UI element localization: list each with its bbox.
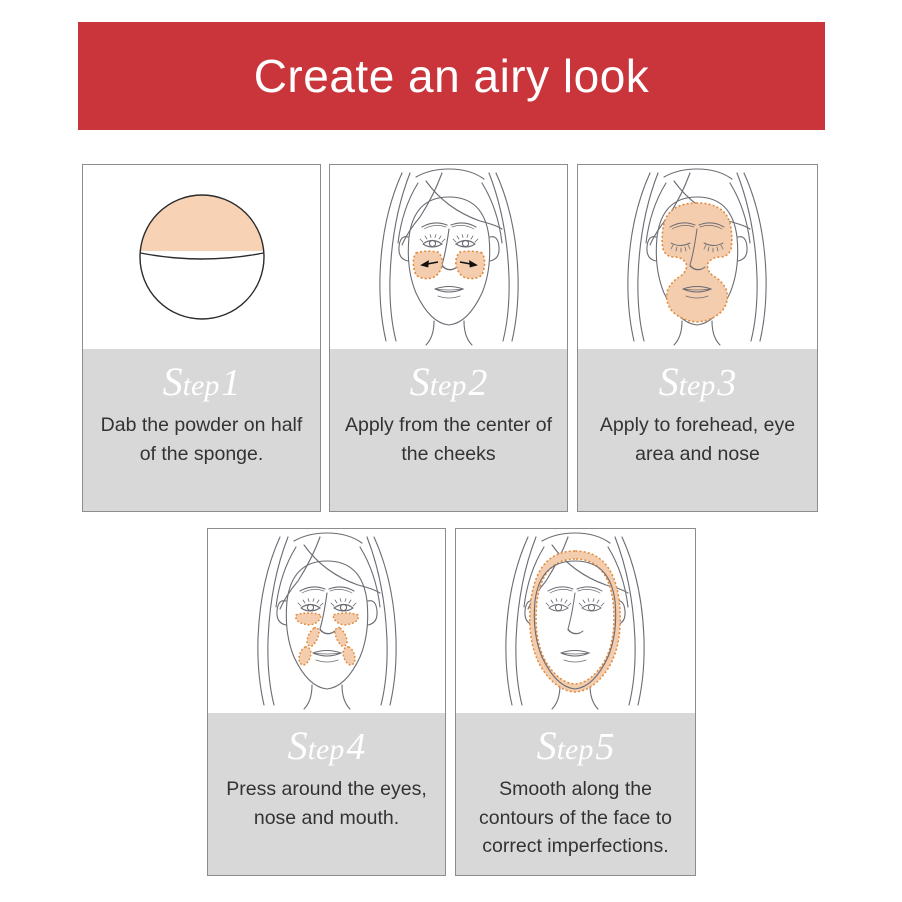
step-card-4: Step4 Press around the eyes, nose and mo…	[207, 528, 446, 876]
caption-3: Step3 Apply to forehead, eye area and no…	[578, 349, 817, 511]
step-description-1: Dab the powder on half of the sponge.	[89, 411, 314, 468]
step-description-3: Apply to forehead, eye area and nose	[584, 411, 811, 468]
caption-5: Step5 Smooth along the contours of the f…	[456, 713, 695, 875]
step-label-2: Step2	[336, 355, 561, 409]
caption-1: Step1 Dab the powder on half of the spon…	[83, 349, 320, 511]
step-label-5: Step5	[462, 719, 689, 773]
illustration-sponge-half-powder	[83, 165, 320, 349]
illustration-face-contour-oval	[456, 529, 695, 713]
step-card-1: Step1 Dab the powder on half of the spon…	[82, 164, 321, 512]
step-label-3: Step3	[584, 355, 811, 409]
step-description-4: Press around the eyes, nose and mouth.	[214, 775, 439, 832]
step-card-3: Step3 Apply to forehead, eye area and no…	[577, 164, 818, 512]
step-card-2: Step2 Apply from the center of the cheek…	[329, 164, 568, 512]
step-description-2: Apply from the center of the cheeks	[336, 411, 561, 468]
illustration-face-t-zone	[578, 165, 817, 349]
instruction-poster: Create an airy look Step1 Dab the powder…	[0, 0, 902, 902]
caption-2: Step2 Apply from the center of the cheek…	[330, 349, 567, 511]
page-title: Create an airy look	[254, 49, 650, 103]
illustration-face-small-patches	[208, 529, 445, 713]
step-card-5: Step5 Smooth along the contours of the f…	[455, 528, 696, 876]
caption-4: Step4 Press around the eyes, nose and mo…	[208, 713, 445, 875]
illustration-face-cheeks-arrows	[330, 165, 567, 349]
step-description-5: Smooth along the contours of the face to…	[462, 775, 689, 860]
step-label-4: Step4	[214, 719, 439, 773]
step-label-1: Step1	[89, 355, 314, 409]
header-banner: Create an airy look	[78, 22, 825, 130]
